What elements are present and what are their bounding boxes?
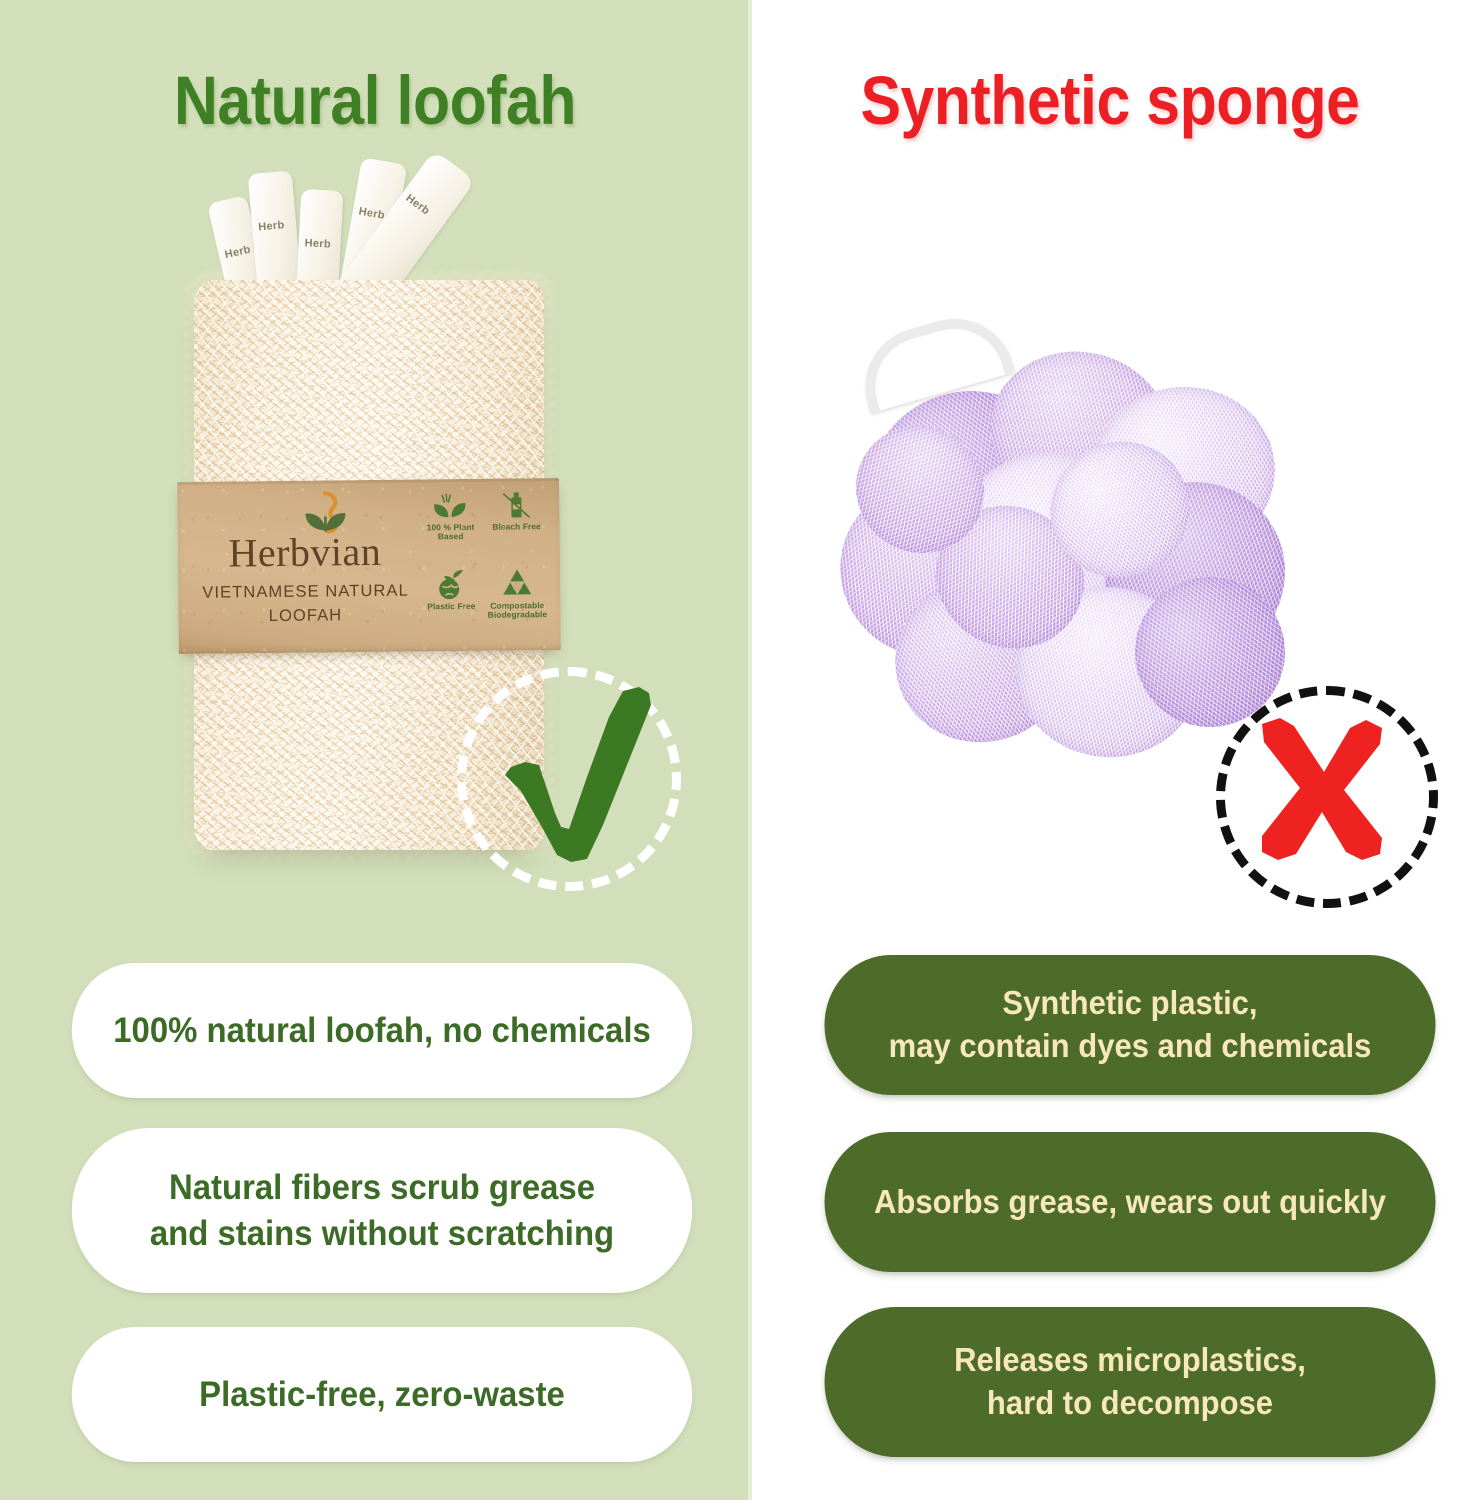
rejected-x-badge bbox=[1212, 682, 1442, 912]
drawback-pill-text: Synthetic plastic, may contain dyes and … bbox=[889, 982, 1372, 1068]
check-mark-icon bbox=[499, 679, 659, 869]
benefit-pill-text: 100% natural loofah, no chemicals bbox=[113, 1008, 651, 1054]
drawback-pill: Releases microplastics, hard to decompos… bbox=[825, 1307, 1436, 1457]
right-column-heading: Synthetic sponge bbox=[793, 66, 1427, 135]
label-subtitle: VIETNAMESE NATURAL LOOFAH bbox=[196, 580, 414, 630]
benefit-pill: 100% natural loofah, no chemicals bbox=[72, 963, 692, 1098]
eco-badge-caption: Plastic Free bbox=[427, 602, 475, 612]
no-bleach-bottle-icon bbox=[499, 490, 533, 520]
benefit-pill: Natural fibers scrub grease and stains w… bbox=[72, 1128, 692, 1293]
globe-sprout-icon bbox=[432, 568, 470, 600]
eco-badge-plastic-free: Plastic Free bbox=[420, 568, 483, 642]
benefit-pill-text: Natural fibers scrub grease and stains w… bbox=[150, 1165, 614, 1256]
benefit-pill-text: Plastic-free, zero-waste bbox=[199, 1372, 565, 1418]
left-column-heading: Natural loofah bbox=[45, 66, 705, 135]
eco-badge-caption: Bleach Free bbox=[492, 522, 541, 532]
drawback-pill: Synthetic plastic, may contain dyes and … bbox=[825, 955, 1436, 1095]
brand-block: Herbvian VIETNAMESE NATURAL LOOFAH bbox=[195, 494, 413, 496]
drawback-pill: Absorbs grease, wears out quickly bbox=[825, 1132, 1436, 1272]
eco-badge-bleach-free: Bleach Free bbox=[485, 490, 548, 564]
eco-badge-grid: 100 % Plant Based Bleach Free bbox=[419, 490, 549, 641]
eco-badge-compostable: Compostable Biodegradable bbox=[486, 567, 549, 641]
drawback-pill-text: Absorbs grease, wears out quickly bbox=[874, 1181, 1386, 1224]
benefit-pill: Plastic-free, zero-waste bbox=[72, 1327, 692, 1462]
herbvian-leaf-logo-icon bbox=[302, 490, 348, 534]
comparison-infographic: Natural loofah Synthetic sponge Herb Her… bbox=[0, 0, 1470, 1500]
drawback-pill-text: Releases microplastics, hard to decompos… bbox=[954, 1339, 1306, 1425]
product-label-band: Herbvian VIETNAMESE NATURAL LOOFAH 100 % bbox=[177, 478, 561, 654]
eco-badge-caption: 100 % Plant Based bbox=[420, 523, 482, 542]
eco-badge-caption: Compostable Biodegradable bbox=[486, 601, 548, 620]
x-mark-icon bbox=[1250, 714, 1390, 867]
recycle-leaf-icon bbox=[499, 567, 535, 599]
approved-check-badge bbox=[455, 655, 675, 905]
eco-badge-plant-based: 100 % Plant Based bbox=[419, 491, 482, 565]
brand-name: Herbvian bbox=[196, 528, 414, 577]
panel-divider bbox=[748, 0, 752, 1500]
leaves-icon bbox=[430, 491, 470, 521]
